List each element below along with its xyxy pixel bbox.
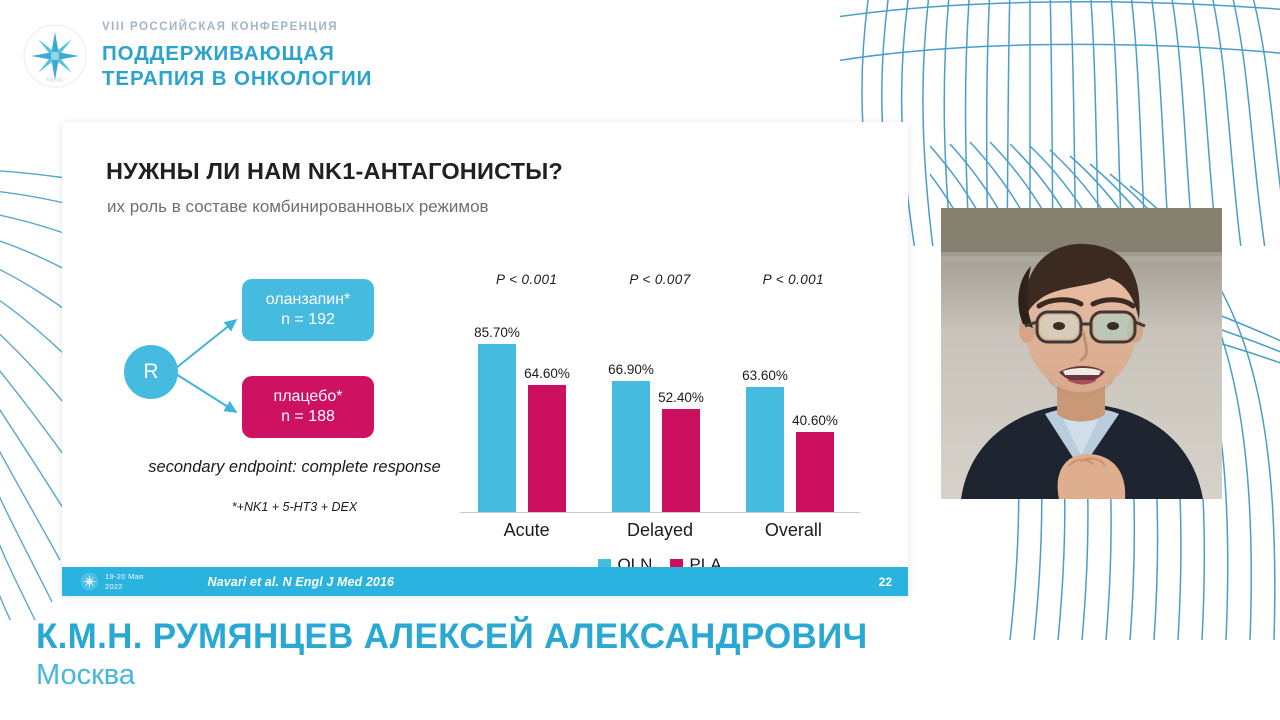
treatment-arm-olanzapine: оланзапин* n = 192 xyxy=(242,279,374,341)
bar-value-label: 63.60% xyxy=(742,368,788,383)
endpoint-note: secondary endpoint: complete response xyxy=(102,458,487,477)
pvalue-annotation-row: P < 0.001 P < 0.007 P < 0.001 xyxy=(460,272,860,287)
bar-value-label: 85.70% xyxy=(474,325,520,340)
category-label: Delayed xyxy=(593,520,726,541)
bar-oln: 66.90% xyxy=(612,381,650,512)
footer-date: 19-20 Мая 2022 xyxy=(105,572,144,590)
bar-oln: 85.70% xyxy=(478,344,516,512)
randomization-diagram: R оланзапин* n = 192 плацебо* n = 188 se… xyxy=(100,264,490,549)
bar-value-label: 52.40% xyxy=(658,390,704,405)
speaker-lower-third: К.М.Н. РУМЯНЦЕВ АЛЕКСЕЙ АЛЕКСАНДРОВИЧ Мо… xyxy=(36,618,867,693)
presentation-stage: RASSC VIII РОССИЙСКАЯ КОНФЕРЕНЦИЯ ПОДДЕР… xyxy=(0,0,1280,720)
category-label: Overall xyxy=(727,520,860,541)
randomization-node: R xyxy=(124,345,178,399)
snowflake-star-icon xyxy=(80,572,99,591)
bar-value-label: 40.60% xyxy=(792,413,838,428)
chart-plot-area: 85.70% 64.60% 66.90% 52.40% xyxy=(460,316,860,513)
chart-category-labels: Acute Delayed Overall xyxy=(460,520,860,541)
slide-subtitle: их роль в составе комбинированновых режи… xyxy=(107,197,489,217)
treatment-arm-placebo: плацебо* n = 188 xyxy=(242,376,374,438)
pvalue-annotation: P < 0.001 xyxy=(727,272,860,287)
category-label: Acute xyxy=(460,520,593,541)
bar-pla: 40.60% xyxy=(796,432,834,512)
pvalue-annotation: P < 0.001 xyxy=(460,272,593,287)
slide-card: НУЖНЫ ЛИ НАМ NK1-АНТАГОНИСТЫ? их роль в … xyxy=(62,122,908,596)
arm-sample-size: n = 188 xyxy=(281,407,335,427)
speaker-webcam-image xyxy=(941,208,1222,499)
complete-response-bar-chart: P < 0.001 P < 0.007 P < 0.001 85.70% 64.… xyxy=(460,272,890,572)
regimen-footnote: *+NK1 + 5-HT3 + DEX xyxy=(102,500,487,514)
arm-name: плацебо* xyxy=(274,387,343,407)
bar-group: 85.70% 64.60% xyxy=(470,316,588,512)
brand-title-line-2: ТЕРАПИЯ В ОНКОЛОГИИ xyxy=(102,66,372,91)
arm-sample-size: n = 192 xyxy=(281,310,335,330)
randomization-label: R xyxy=(143,360,158,384)
speaker-video-tile[interactable] xyxy=(941,208,1222,499)
bar-pla: 64.60% xyxy=(528,385,566,512)
bar-group: 66.90% 52.40% xyxy=(604,316,722,512)
bar-group: 63.60% 40.60% xyxy=(738,316,856,512)
bar-value-label: 66.90% xyxy=(608,362,654,377)
slide-title: НУЖНЫ ЛИ НАМ NK1-АНТАГОНИСТЫ? xyxy=(106,158,563,185)
pvalue-annotation: P < 0.007 xyxy=(593,272,726,287)
bar-pla: 52.40% xyxy=(662,409,700,512)
conference-brand-header: RASSC VIII РОССИЙСКАЯ КОНФЕРЕНЦИЯ ПОДДЕР… xyxy=(22,22,372,91)
slide-content: НУЖНЫ ЛИ НАМ NK1-АНТАГОНИСТЫ? их роль в … xyxy=(62,122,908,567)
slide-footer-bar: 19-20 Мая 2022 Navari et al. N Engl J Me… xyxy=(62,567,908,596)
brand-title-line-1: ПОДДЕРЖИВАЮЩАЯ xyxy=(102,41,372,66)
speaker-city: Москва xyxy=(36,658,867,693)
bar-value-label: 64.60% xyxy=(524,366,570,381)
svg-text:RASSC: RASSC xyxy=(46,78,64,84)
snowflake-star-icon: RASSC xyxy=(22,23,88,89)
arm-name: оланзапин* xyxy=(266,290,351,310)
speaker-name: К.М.Н. РУМЯНЦЕВ АЛЕКСЕЙ АЛЕКСАНДРОВИЧ xyxy=(36,618,867,656)
slide-page-number: 22 xyxy=(879,575,892,589)
footer-citation: Navari et al. N Engl J Med 2016 xyxy=(208,575,395,589)
brand-kicker: VIII РОССИЙСКАЯ КОНФЕРЕНЦИЯ xyxy=(102,22,372,34)
bar-oln: 63.60% xyxy=(746,387,784,512)
